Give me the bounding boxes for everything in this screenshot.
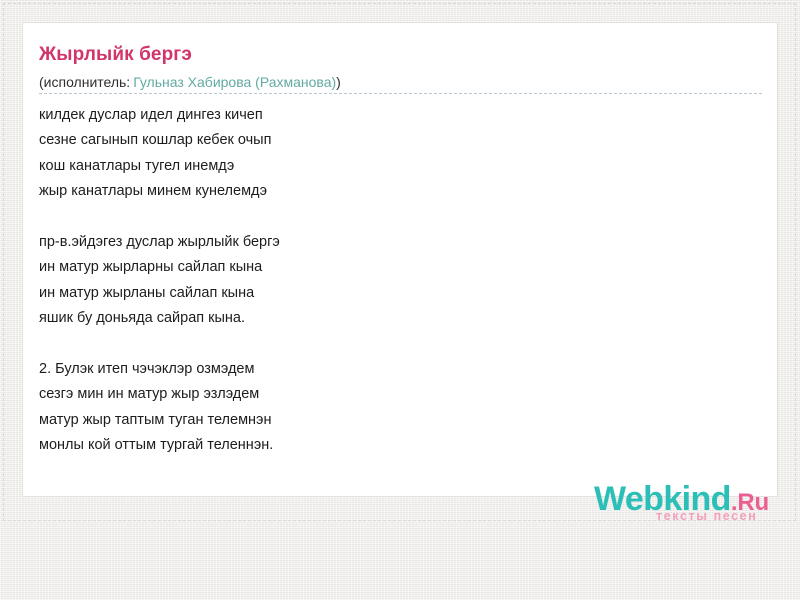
performer-label: (исполнитель:: [39, 74, 130, 90]
lyric-line: матур жыр таптым туган телемнэн: [39, 408, 739, 433]
lyric-line: килдек дуслар идел дингез кичеп: [39, 103, 739, 128]
lyric-line: ин матур жырланы сайлап кына: [39, 281, 739, 306]
lyrics-card: Жырлыйк бергэ (исполнитель:Гульназ Хабир…: [22, 22, 778, 497]
lyric-line: сезне сагынып кошлар кебек очып: [39, 128, 739, 153]
lyric-line: сезгэ мин ин матур жыр эзлэдем: [39, 382, 739, 407]
lyric-line: монлы кой оттым тургай теленнэн.: [39, 433, 739, 458]
lyric-line-blank: [39, 332, 739, 357]
lyric-line-blank: [39, 205, 739, 230]
performer-line: (исполнитель:Гульназ Хабирова (Рахманова…: [39, 74, 341, 90]
page-title: Жырлыйк бергэ: [39, 44, 192, 66]
lyrics-body: килдек дуслар идел дингез кичепсезне саг…: [39, 103, 739, 458]
logo-tagline: тексты песен: [656, 509, 757, 523]
lyric-line: яшик бу доньяда сайрап кына.: [39, 306, 739, 331]
lyric-line: пр-в.эйдэгез дуслар жырлыйк бергэ: [39, 230, 739, 255]
performer-close-paren: ): [336, 74, 341, 90]
performer-link[interactable]: Гульназ Хабирова (Рахманова): [130, 74, 336, 90]
lyric-line: ин матур жырларны сайлап кына: [39, 255, 739, 280]
header-divider: [39, 93, 762, 94]
webkind-logo[interactable]: Webkind.Ru тексты песен: [594, 482, 800, 532]
lyric-line: 2. Булэк итеп чэчэклэр озмэдем: [39, 357, 739, 382]
lyric-line: жыр канатлары минем кунелемдэ: [39, 179, 739, 204]
lyric-line: кош канатлары тугел инемдэ: [39, 154, 739, 179]
